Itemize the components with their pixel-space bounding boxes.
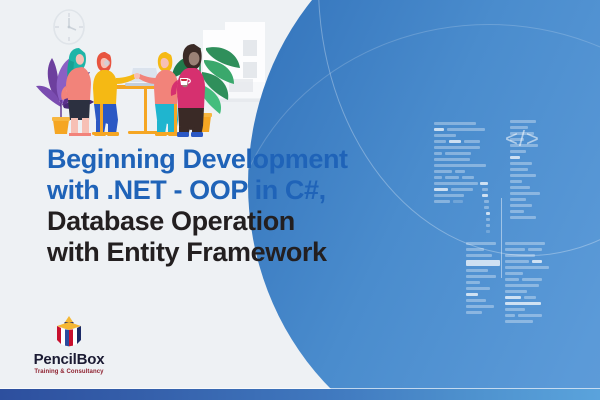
pencil-box-cube-icon — [26, 316, 146, 350]
title-line-4: with Entity Framework — [47, 237, 397, 268]
title-line-3: Database Operation — [47, 206, 397, 237]
code-divider-rule — [501, 198, 502, 278]
title-line-2: with .NET - OOP in C#, — [47, 175, 397, 206]
course-banner: </> — [0, 0, 600, 400]
code-brackets-icon: </> — [505, 128, 540, 150]
logo-name: PencilBox — [26, 351, 112, 368]
logo-tagline: Training & Consultancy — [26, 369, 112, 375]
brand-logo: PencilBox Training & Consultancy — [26, 316, 146, 375]
code-lines-lower-right — [505, 242, 565, 323]
team-collaboration-illustration — [28, 8, 258, 138]
page-title: Beginning Development with .NET - OOP in… — [47, 144, 397, 268]
title-line-1: Beginning Development — [47, 144, 397, 175]
bottom-accent-bar — [0, 389, 600, 400]
